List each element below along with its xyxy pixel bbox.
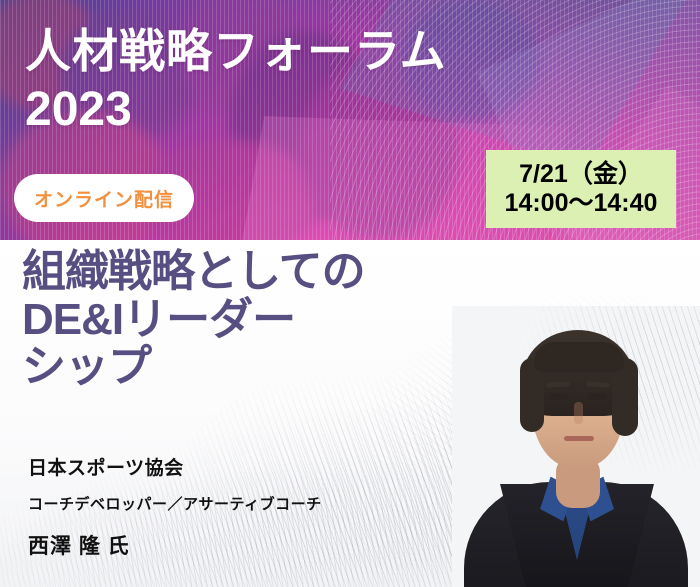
event-title: 人材戦略フォーラム xyxy=(25,26,447,78)
date-time-box: 7/21（金） 14:00〜14:40 xyxy=(486,150,676,228)
event-banner: 人材戦略フォーラム 2023 オンライン配信 7/21（金） 14:00〜14:… xyxy=(0,0,700,240)
speaker-portrait-photo xyxy=(452,306,700,587)
event-year: 2023 xyxy=(25,86,132,134)
speaker-role: コーチデベロッパー／アサーティブコーチ xyxy=(28,493,322,514)
session-title: 組織戦略としての DE&Iリーダー シップ xyxy=(22,248,492,391)
portrait-mouth xyxy=(564,436,594,441)
portrait-eye-right xyxy=(588,393,607,400)
speaker-info: 日本スポーツ協会 コーチデベロッパー／アサーティブコーチ 西澤 隆 氏 xyxy=(28,453,322,560)
portrait-eye-left xyxy=(549,393,568,400)
time-value: 14:00〜14:40 xyxy=(505,189,658,219)
portrait-hair-fringe xyxy=(534,342,624,372)
date-value: 7/21（金） xyxy=(519,160,643,190)
online-badge-label: オンライン配信 xyxy=(34,185,174,212)
seminar-poster: 人材戦略フォーラム 2023 オンライン配信 7/21（金） 14:00〜14:… xyxy=(0,0,700,587)
speaker-organization: 日本スポーツ協会 xyxy=(28,453,322,480)
online-streaming-badge: オンライン配信 xyxy=(14,174,194,222)
speaker-name: 西澤 隆 氏 xyxy=(28,530,322,560)
portrait-nose xyxy=(574,402,583,424)
